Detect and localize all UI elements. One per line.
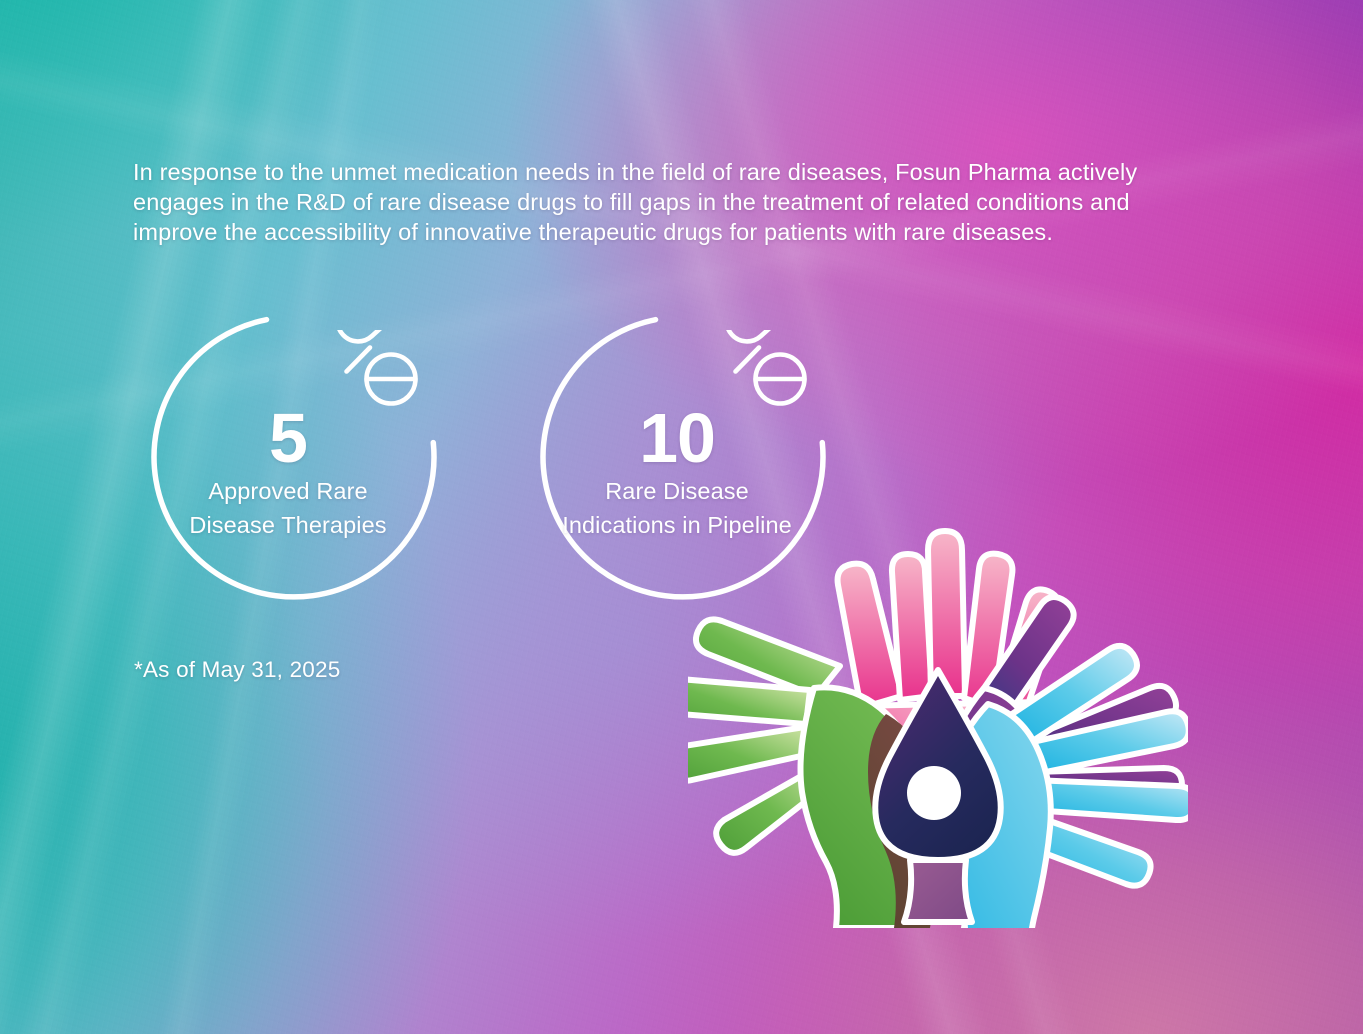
stat-label-line-2: Disease Therapies bbox=[138, 510, 438, 540]
stat-text-block: 5 Approved Rare Disease Therapies bbox=[138, 404, 438, 540]
logo-stem bbox=[904, 860, 972, 922]
intro-paragraph: In response to the unmet medication need… bbox=[133, 157, 1173, 248]
logo-center-dot bbox=[907, 766, 961, 820]
stat-value: 10 bbox=[527, 404, 827, 472]
content-layer: In response to the unmet medication need… bbox=[0, 0, 1363, 1034]
footnote-as-of-date: *As of May 31, 2025 bbox=[134, 657, 340, 683]
stat-label-line-1: Rare Disease bbox=[527, 476, 827, 506]
stat-card-approved-therapies: 5 Approved Rare Disease Therapies bbox=[138, 308, 438, 608]
stat-label-line-1: Approved Rare bbox=[138, 476, 438, 506]
stat-value: 5 bbox=[138, 404, 438, 472]
pill-icon bbox=[336, 330, 420, 412]
rare-disease-hands-logo bbox=[688, 528, 1188, 928]
pill-icon bbox=[725, 330, 809, 412]
stat-text-block: 10 Rare Disease Indications in Pipeline bbox=[527, 404, 827, 540]
infographic-canvas: In response to the unmet medication need… bbox=[0, 0, 1363, 1034]
